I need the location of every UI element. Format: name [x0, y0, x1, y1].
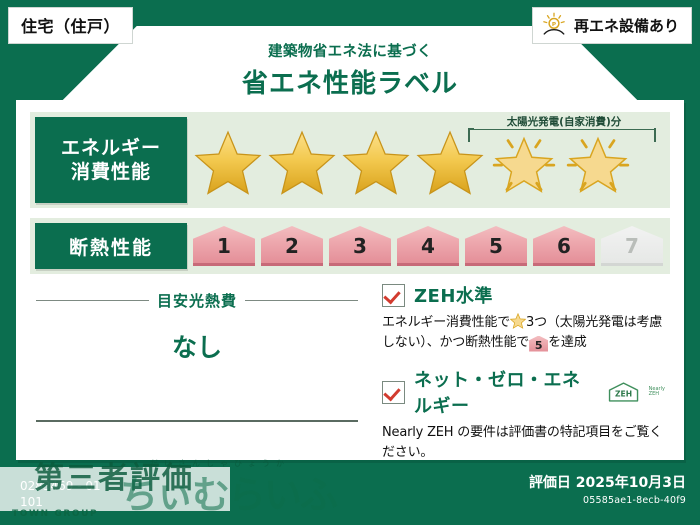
- insulation-level-6: 6: [533, 226, 595, 266]
- evaluation-date: 評価日 2025年10月3日: [529, 472, 686, 492]
- star-icon-filled-3: [341, 130, 411, 196]
- utility-cost-label: 目安光熱費: [157, 290, 237, 311]
- zeh-section: ZEH水準 エネルギー消費性能で3つ（太陽光発電は考慮しない）、かつ断熱性能で5…: [382, 282, 672, 462]
- zeh-desc-part-c: を達成: [548, 335, 586, 350]
- footer-serial: 0283469 - 01: [20, 478, 101, 494]
- energy-performance-label: エネルギー 消費性能: [35, 117, 187, 203]
- star-icon-solar-6: [563, 130, 633, 196]
- svg-text:ZEH: ZEH: [615, 389, 632, 398]
- renewable-energy-badge: P 再エネ設備あり: [532, 7, 692, 44]
- zeh-standard-description: エネルギー消費性能で3つ（太陽光発電は考慮しない）、かつ断熱性能で5を達成: [382, 313, 672, 352]
- zeh-desc-part-a: エネルギー消費性能で: [382, 315, 510, 330]
- star-icon-filled-1: [193, 130, 263, 196]
- star-icon-filled-4: [415, 130, 485, 196]
- insulation-level-5: 5: [465, 226, 527, 266]
- insulation-level-1: 1: [193, 226, 255, 266]
- sun-icon: P: [541, 12, 567, 38]
- utility-cost-value: なし: [36, 328, 358, 364]
- insulation-row: 断熱性能 1 2 3 4 5 6 7: [30, 218, 670, 274]
- renewable-badge-label: 再エネ設備あり: [574, 15, 679, 36]
- document-id: 05585ae1-8ecb-40f9: [529, 495, 686, 506]
- zeh-standard-title: ZEH水準: [414, 282, 493, 308]
- zeh-standard-row: ZEH水準: [382, 282, 672, 308]
- insulation-label: 断熱性能: [35, 223, 187, 269]
- net-zero-description: Nearly ZEH の要件は評価書の特記項目をご覧ください。: [382, 423, 672, 462]
- star-icon-inline: [510, 313, 526, 329]
- footer-right: 評価日 2025年10月3日 05585ae1-8ecb-40f9: [529, 472, 686, 506]
- star-icon-filled-2: [267, 130, 337, 196]
- insulation-level-7: 7: [601, 226, 663, 266]
- star-rating: 太陽光発電(自家消費)分: [187, 112, 670, 208]
- energy-label-line2: 消費性能: [71, 160, 151, 184]
- utility-cost-rule: [36, 420, 358, 422]
- energy-label-root: 住宅（住戸） P 再エネ設備あり 建築物省エネ法に基づく 省エネ性能ラベル エネ…: [0, 0, 700, 525]
- label-title: 建築物省エネ法に基づく 省エネ性能ラベル: [0, 40, 700, 100]
- zeh-logo-subtext: Nearly ZEH: [649, 387, 672, 398]
- star-icon-solar-5: [489, 130, 559, 196]
- net-zero-checkbox[interactable]: [382, 381, 405, 404]
- insulation-badge-inline: 5: [529, 336, 548, 352]
- building-type-tag: 住宅（住戸）: [8, 7, 133, 44]
- footer-unit: 101: [20, 494, 101, 510]
- net-zero-row: ネット・ゼロ・エネルギー ZEH Nearly ZEH: [382, 366, 672, 418]
- svg-text:P: P: [552, 22, 556, 28]
- insulation-level-2: 2: [261, 226, 323, 266]
- utility-cost-heading: 目安光熱費: [36, 290, 358, 311]
- zeh-house-logo-icon: ZEH: [607, 379, 640, 405]
- zeh-standard-checkbox[interactable]: [382, 284, 405, 307]
- footer-left: 0283469 - 01 101: [20, 478, 101, 510]
- insulation-levels: 1 2 3 4 5 6 7: [187, 218, 670, 274]
- solar-caption: 太陽光発電(自家消費)分: [474, 114, 654, 129]
- watermark-brand: TOWN GROUP: [12, 509, 98, 519]
- net-zero-title: ネット・ゼロ・エネルギー: [414, 366, 598, 418]
- label-card: エネルギー 消費性能 太陽光発電(自家消費)分: [16, 100, 684, 460]
- insulation-level-3: 3: [329, 226, 391, 266]
- insulation-level-4: 4: [397, 226, 459, 266]
- energy-performance-row: エネルギー 消費性能 太陽光発電(自家消費)分: [30, 112, 670, 208]
- title-main: 省エネ性能ラベル: [0, 63, 700, 100]
- energy-label-line1: エネルギー: [61, 136, 161, 160]
- watermark-cursive: ちぃむらいふ: [120, 464, 336, 519]
